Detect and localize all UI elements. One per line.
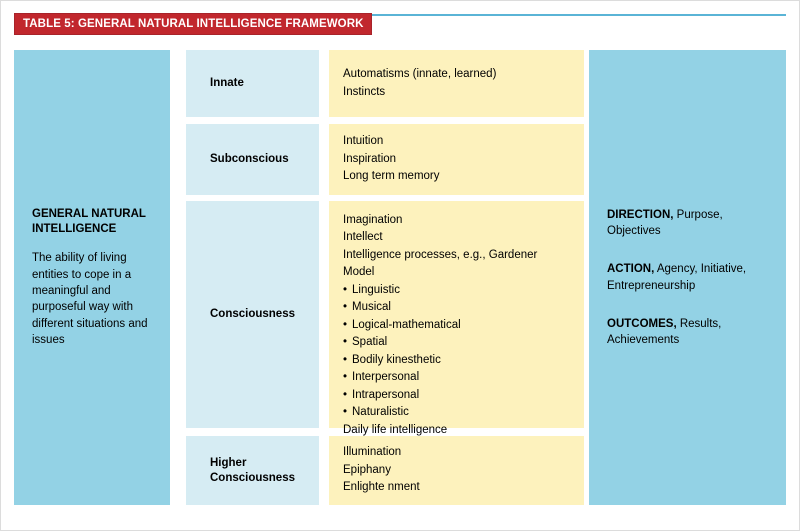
- table-row: Innate Automatisms (innate, learned)Inst…: [186, 50, 584, 117]
- bullet-item: Naturalistic: [343, 404, 570, 421]
- table-row: Higher Consciousness IlluminationEpiphan…: [186, 436, 584, 505]
- content-line: Epiphany: [343, 462, 570, 479]
- content-line: Intellect: [343, 229, 570, 246]
- row-label-cell: Subconscious: [186, 124, 319, 195]
- bullet-item: Musical: [343, 299, 570, 316]
- bullet-item: Bodily kinesthetic: [343, 352, 570, 369]
- row-label-cell: Higher Consciousness: [186, 436, 319, 505]
- bullet-item: Intrapersonal: [343, 387, 570, 404]
- bullet-item: Logical-mathematical: [343, 317, 570, 334]
- row-content-cell: ImaginationIntellectIntelligence process…: [329, 201, 584, 428]
- row-label: Subconscious: [210, 152, 289, 167]
- table-title-label: TABLE 5: GENERAL NATURAL INTELLIGENCE FR…: [23, 18, 364, 30]
- row-label-cell: Consciousness: [186, 201, 319, 428]
- bullet-item: Spatial: [343, 334, 570, 351]
- row-label: Consciousness: [210, 307, 295, 322]
- outcome-keyword: ACTION,: [607, 263, 654, 275]
- content-line: Enlighte nment: [343, 479, 570, 496]
- content-line: Intelligence processes, e.g., Gardener: [343, 247, 570, 264]
- row-label: Innate: [210, 76, 244, 91]
- outcomes-panel: DIRECTION, Purpose, ObjectivesACTION, Ag…: [589, 50, 786, 505]
- row-label-cell: Innate: [186, 50, 319, 117]
- bullet-item: Linguistic: [343, 282, 570, 299]
- content-line: Long term memory: [343, 168, 570, 185]
- row-label: Higher Consciousness: [210, 456, 319, 486]
- bullet-item: Interpersonal: [343, 369, 570, 386]
- framework-grid: Innate Automatisms (innate, learned)Inst…: [186, 50, 584, 505]
- row-content-cell: Automatisms (innate, learned)Instincts: [329, 50, 584, 117]
- content-line: Model: [343, 264, 570, 281]
- table-row: Consciousness ImaginationIntellectIntell…: [186, 201, 584, 428]
- table-title-band: TABLE 5: GENERAL NATURAL INTELLIGENCE FR…: [14, 13, 372, 35]
- outcome-keyword: OUTCOMES,: [607, 318, 677, 330]
- content-line: Illumination: [343, 444, 570, 461]
- content-line: Instincts: [343, 84, 570, 101]
- row-content-cell: IntuitionInspirationLong term memory: [329, 124, 584, 195]
- content-line: Inspiration: [343, 151, 570, 168]
- content-line: Imagination: [343, 212, 570, 229]
- row-content-cell: IlluminationEpiphanyEnlighte nment: [329, 436, 584, 505]
- table-row: Subconscious IntuitionInspirationLong te…: [186, 124, 584, 195]
- content-line: Intuition: [343, 133, 570, 150]
- outcome-item: DIRECTION, Purpose, Objectives: [607, 207, 768, 240]
- outcome-keyword: DIRECTION,: [607, 209, 673, 221]
- left-panel-heading: GENERAL NATURAL INTELLIGENCE: [32, 207, 152, 237]
- outcome-item: OUTCOMES, Results, Achievements: [607, 316, 768, 349]
- left-panel-description: The ability of living entities to cope i…: [32, 250, 152, 348]
- content-line: Automatisms (innate, learned): [343, 66, 570, 83]
- general-natural-intelligence-panel: GENERAL NATURAL INTELLIGENCE The ability…: [14, 50, 170, 505]
- outcome-item: ACTION, Agency, Initiative, Entrepreneur…: [607, 261, 768, 294]
